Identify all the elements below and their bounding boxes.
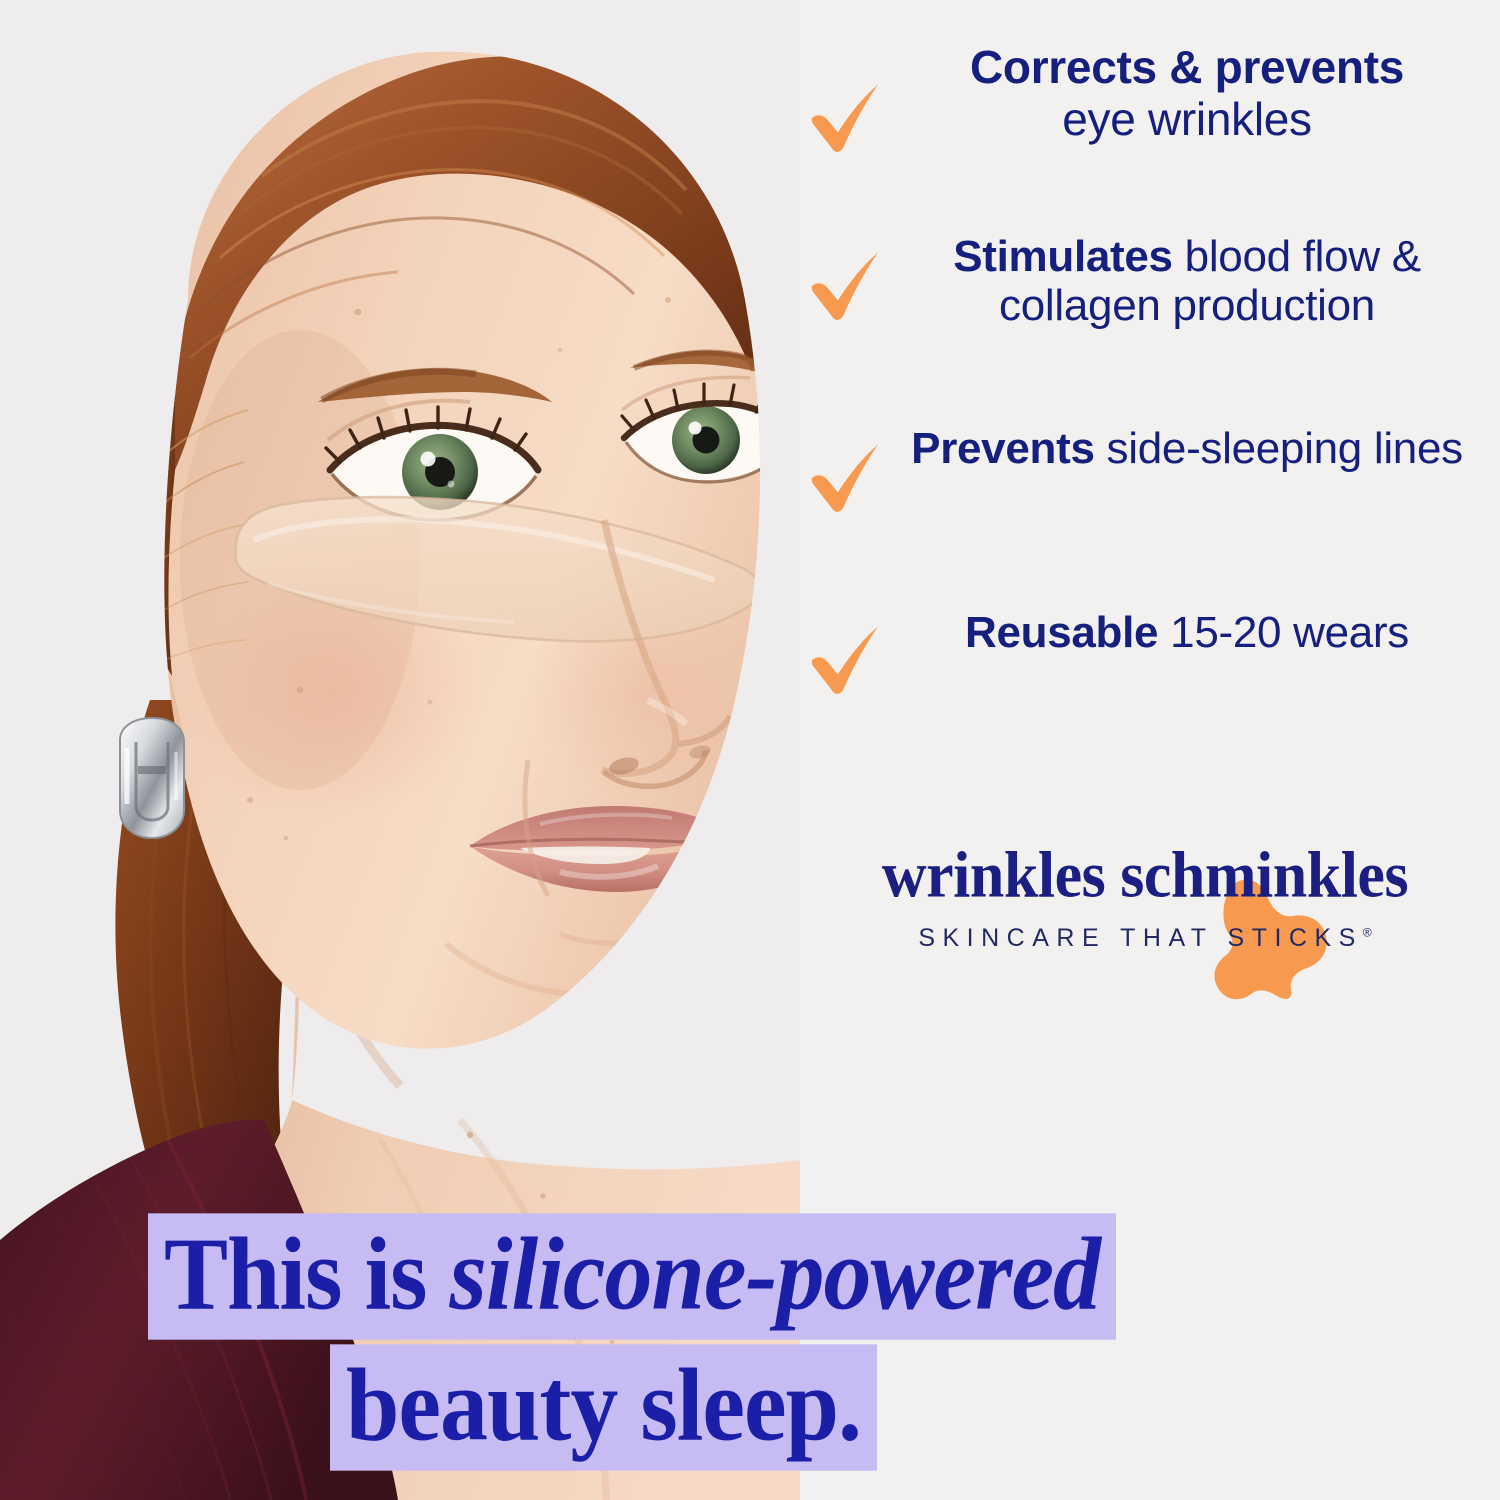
benefit-item: Corrects & prevents eye wrinkles bbox=[795, 42, 1485, 145]
benefit-rest: eye wrinkles bbox=[1062, 93, 1312, 145]
product-marketing-image: Corrects & prevents eye wrinkles Stimula… bbox=[0, 0, 1500, 1500]
checkmark-icon bbox=[805, 440, 883, 514]
benefits-panel: Corrects & prevents eye wrinkles Stimula… bbox=[795, 0, 1500, 1070]
benefit-item: Prevents side-sleeping lines bbox=[795, 424, 1485, 473]
benefit-rest: 15-20 wears bbox=[1158, 608, 1409, 657]
logo-tagline-text: SKINCARE THAT STICKS bbox=[918, 924, 1363, 952]
silver-hoop-earring bbox=[120, 718, 184, 838]
benefit-lead: Stimulates bbox=[953, 232, 1173, 281]
benefit-text: Stimulates blood flow & collagen product… bbox=[907, 232, 1467, 331]
benefit-lead: Corrects & prevents bbox=[970, 41, 1404, 93]
registered-mark: ® bbox=[1363, 926, 1372, 940]
checkmark-icon bbox=[805, 248, 883, 322]
benefit-text: Reusable 15-20 wears bbox=[907, 608, 1467, 657]
logo-tagline: SKINCARE THAT STICKS® bbox=[795, 924, 1495, 953]
benefit-text: Corrects & prevents eye wrinkles bbox=[907, 42, 1467, 145]
headline-italic: silicone-powered bbox=[449, 1215, 1100, 1331]
benefit-lead: Prevents bbox=[911, 424, 1094, 473]
checkmark-icon bbox=[805, 80, 883, 154]
checkmark-icon bbox=[805, 622, 883, 696]
benefit-rest: side-sleeping lines bbox=[1095, 424, 1463, 473]
benefit-lead: Reusable bbox=[965, 608, 1158, 657]
benefit-item: Reusable 15-20 wears bbox=[795, 608, 1485, 657]
benefit-item: Stimulates blood flow & collagen product… bbox=[795, 232, 1485, 331]
logo-wordmark: wrinkles schminkles bbox=[795, 838, 1495, 913]
brand-logo: wrinkles schminkles SKINCARE THAT STICKS… bbox=[795, 838, 1495, 1028]
benefit-text: Prevents side-sleeping lines bbox=[907, 424, 1467, 473]
headline-line-1: This is silicone-powered bbox=[148, 1213, 1116, 1339]
headline-block: This is silicone-powered beauty sleep. bbox=[0, 1218, 1500, 1466]
headline-plain: This is bbox=[164, 1215, 449, 1331]
headline-line-2: beauty sleep. bbox=[330, 1344, 877, 1470]
